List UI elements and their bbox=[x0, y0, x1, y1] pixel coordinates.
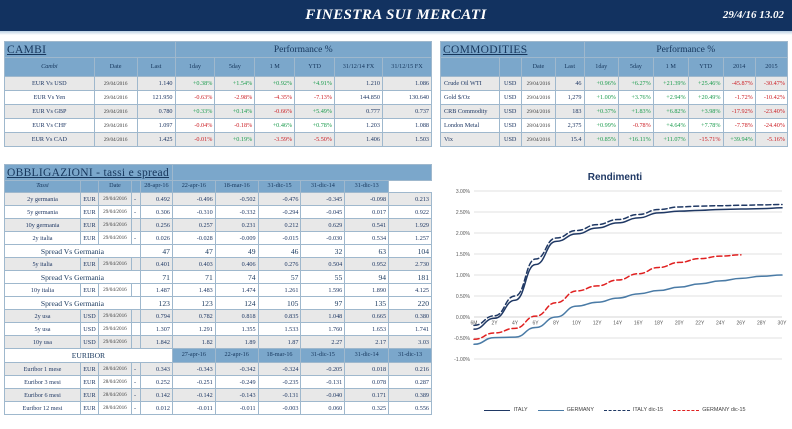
chart-legend-swatch-2 bbox=[604, 410, 630, 411]
bond-name: 2y germania bbox=[5, 193, 81, 206]
cambi-fx15: 0.737 bbox=[382, 105, 431, 119]
table-row: EUR Vs CHF29/04/20161.097-0.04%-0.18%+0.… bbox=[5, 119, 432, 133]
bond-value-5: 4.125 bbox=[389, 284, 432, 297]
table-row: Crude Oil WTIUSD29/04/201646+0.96%+6.27%… bbox=[441, 77, 788, 91]
rendimenti-chart-panel: Rendimenti 3.00%2.50%2.00%1.50%1.00%0.50… bbox=[440, 164, 790, 426]
chart-legend-label: ITALY bbox=[513, 407, 527, 413]
obbligazioni-col-header-1 bbox=[80, 181, 98, 193]
bond-last: 1.487 bbox=[140, 284, 172, 297]
euribor-value-1: -0.011 bbox=[215, 402, 258, 415]
obbligazioni-title-row: OBBLIGAZIONI - tassi e spread bbox=[5, 165, 432, 181]
spread-value-4: 135 bbox=[345, 297, 389, 310]
cambi-panel: CAMBIPerformance %CambiDateLast1day5day1… bbox=[4, 41, 432, 147]
euribor-col-header-1: 22-apr-16 bbox=[215, 349, 258, 363]
cambi-last: 1.425 bbox=[137, 133, 175, 147]
euribor-title: EURIBOR bbox=[5, 349, 173, 363]
euribor-value-1: -0.342 bbox=[215, 363, 258, 376]
euribor-date: 28/04/2016 bbox=[98, 389, 131, 402]
euribor-col-header-0: 27-apr-16 bbox=[172, 349, 215, 363]
bond-value-4: 0.952 bbox=[345, 258, 389, 271]
bond-currency: EUR bbox=[80, 258, 98, 271]
commodity-name: Gold $/Oz bbox=[441, 91, 500, 105]
cambi-pair-name: EUR Vs GBP bbox=[5, 105, 95, 119]
commodity-perf-1: +16.11% bbox=[618, 133, 653, 147]
euribor-name: Euribor 6 mesi bbox=[5, 389, 81, 402]
commodity-last: 46 bbox=[555, 77, 584, 91]
euribor-value-2: -0.235 bbox=[258, 376, 301, 389]
commodity-perf-0: +0.85% bbox=[584, 133, 618, 147]
bond-date: 29/04/2016 bbox=[98, 206, 131, 219]
cambi-col-header-7: 31/12/14 FX bbox=[335, 58, 383, 77]
commodity-name: London Metal bbox=[441, 119, 500, 133]
bond-value-5: 3.03 bbox=[389, 336, 432, 349]
bond-name: 10y usa bbox=[5, 336, 81, 349]
chart-series-line-0 bbox=[474, 208, 782, 329]
spread-label: Spread Vs Germania bbox=[5, 271, 141, 284]
cambi-perf-0: -0.01% bbox=[175, 133, 215, 147]
commodities-col-header-2: Date bbox=[521, 58, 555, 77]
cambi-date: 29/04/2016 bbox=[94, 133, 137, 147]
euribor-col-header-4: 31-dic-14 bbox=[345, 349, 389, 363]
bond-value-0: -0.028 bbox=[172, 232, 215, 245]
commodity-perf-5: -30.47% bbox=[755, 77, 787, 91]
chart-y-tick-label: 2.50% bbox=[456, 210, 471, 216]
table-row: EUR Vs USD29/04/20161.140+0.38%+1.54%+0.… bbox=[5, 77, 432, 91]
chart-series-line-1 bbox=[474, 275, 782, 344]
commodity-last: 15.4 bbox=[555, 133, 584, 147]
cambi-fx14: 1.203 bbox=[335, 119, 383, 133]
table-row: 10y usaUSD29/04/20161.8421.821.891.872.2… bbox=[5, 336, 432, 349]
table-row: Gold $/OzUSD29/04/20161,279+1.00%+3.76%+… bbox=[441, 91, 788, 105]
euribor-date: 28/04/2016 bbox=[98, 363, 131, 376]
obbligazioni-table: OBBLIGAZIONI - tassi e spreadTassiDate28… bbox=[4, 164, 432, 415]
bond-value-3: 2.27 bbox=[301, 336, 345, 349]
bond-value-5: 1.741 bbox=[389, 323, 432, 336]
commodity-perf-1: +6.27% bbox=[618, 77, 653, 91]
bond-currency: EUR bbox=[80, 193, 98, 206]
obbligazioni-col-header-5: 22-apr-16 bbox=[172, 181, 215, 193]
page-header: FINESTRA SUI MERCATI 29/4/16 13.02 bbox=[0, 0, 792, 31]
cambi-table: CAMBIPerformance %CambiDateLast1day5day1… bbox=[4, 41, 432, 147]
bond-currency: EUR bbox=[80, 206, 98, 219]
spread-row: Spread Vs Germania717174575594181 bbox=[5, 271, 432, 284]
bond-value-1: 1.89 bbox=[215, 336, 258, 349]
spread-last: 123 bbox=[140, 297, 172, 310]
spread-value-2: 57 bbox=[258, 271, 301, 284]
table-row: London MetalUSD28/04/20162,375+0.99%-0.7… bbox=[441, 119, 788, 133]
bond-last: 1.307 bbox=[140, 323, 172, 336]
bond-value-3: 0.504 bbox=[301, 258, 345, 271]
chart-x-tick-label: 12Y bbox=[593, 321, 603, 327]
bond-last: 0.401 bbox=[140, 258, 172, 271]
euribor-value-0: -0.011 bbox=[172, 402, 215, 415]
cambi-fx15: 1.086 bbox=[382, 77, 431, 91]
bond-minus-sign: - bbox=[131, 193, 140, 206]
cambi-header-row: CambiDateLast1day5day1 MYTD31/12/14 FX31… bbox=[5, 58, 432, 77]
euribor-minus-sign: - bbox=[131, 402, 140, 415]
cambi-perf-2: -0.66% bbox=[255, 105, 295, 119]
chart-plot-area: 3.00%2.50%2.00%1.50%1.00%0.50%0.00%-0.50… bbox=[440, 185, 790, 425]
bond-value-5: 0.380 bbox=[389, 310, 432, 323]
bond-last: 1.842 bbox=[140, 336, 172, 349]
bond-value-1: -0.009 bbox=[215, 232, 258, 245]
commodity-perf-0: +0.96% bbox=[584, 77, 618, 91]
euribor-last: 0.343 bbox=[140, 363, 172, 376]
bond-name: 5y germania bbox=[5, 206, 81, 219]
cambi-pair-name: EUR Vs USD bbox=[5, 77, 95, 91]
cambi-date: 29/04/2016 bbox=[94, 77, 137, 91]
chart-legend-swatch-0 bbox=[484, 410, 510, 411]
bond-value-3: 1.760 bbox=[301, 323, 345, 336]
table-row: Euribor 3 mesiEUR28/04/2016-0.252-0.251-… bbox=[5, 376, 432, 389]
cambi-perf-3: +0.78% bbox=[295, 119, 335, 133]
euribor-minus-sign: - bbox=[131, 389, 140, 402]
chart-svg: 3.00%2.50%2.00%1.50%1.00%0.50%0.00%-0.50… bbox=[440, 185, 790, 407]
cambi-perf-0: +0.33% bbox=[175, 105, 215, 119]
cambi-title-row: CAMBIPerformance % bbox=[5, 42, 432, 58]
spread-value-0: 47 bbox=[172, 245, 215, 258]
euribor-value-3: -0.131 bbox=[301, 376, 345, 389]
chart-x-tick-label: 24Y bbox=[716, 321, 726, 327]
euribor-value-3: 0.060 bbox=[301, 402, 345, 415]
spread-value-3: 97 bbox=[301, 297, 345, 310]
bond-date: 29/04/2016 bbox=[98, 323, 131, 336]
cambi-fx15: 1.088 bbox=[382, 119, 431, 133]
obbligazioni-col-header-9: 31-dic-13 bbox=[345, 181, 389, 193]
table-row: 5y italiaEUR29/04/20160.4010.4030.4060.2… bbox=[5, 258, 432, 271]
table-row: 2y italiaEUR29/04/2016-0.026-0.028-0.009… bbox=[5, 232, 432, 245]
chart-x-tick-label: 28Y bbox=[757, 321, 767, 327]
euribor-header-row: EURIBOR27-apr-1622-apr-1618-mar-1631-dic… bbox=[5, 349, 432, 363]
commodity-perf-5: -10.42% bbox=[755, 91, 787, 105]
bond-name: 10y italia bbox=[5, 284, 81, 297]
commodity-date: 29/04/2016 bbox=[521, 77, 555, 91]
euribor-value-4: 0.018 bbox=[345, 363, 389, 376]
bond-date: 29/04/2016 bbox=[98, 258, 131, 271]
commodities-col-header-1 bbox=[499, 58, 521, 77]
cambi-col-header-0: Cambi bbox=[5, 58, 95, 77]
chart-title: Rendimenti bbox=[440, 172, 790, 183]
spread-value-1: 74 bbox=[215, 271, 258, 284]
euribor-value-5: 0.556 bbox=[389, 402, 432, 415]
cambi-date: 29/04/2016 bbox=[94, 91, 137, 105]
commodity-name: CRB Commodity bbox=[441, 105, 500, 119]
commodity-perf-3: +3.98% bbox=[688, 105, 723, 119]
cambi-date: 29/04/2016 bbox=[94, 119, 137, 133]
bond-minus-sign bbox=[131, 284, 140, 297]
chart-x-tick-label: 14Y bbox=[613, 321, 623, 327]
table-row: 10y italiaEUR29/04/20161.4871.4831.4741.… bbox=[5, 284, 432, 297]
spread-value-0: 123 bbox=[172, 297, 215, 310]
bond-value-5: 1.257 bbox=[389, 232, 432, 245]
commodities-panel: COMMODITIESPerformance %DateLast1day5day… bbox=[440, 41, 788, 147]
cambi-perf-3: +4.91% bbox=[295, 77, 335, 91]
table-row: Euribor 1 meseEUR28/04/2016-0.343-0.343-… bbox=[5, 363, 432, 376]
bond-value-3: -0.030 bbox=[301, 232, 345, 245]
chart-legend: ITALYGERMANYITALY dic-15GERMANY dic-15 bbox=[440, 407, 790, 413]
spread-value-3: 55 bbox=[301, 271, 345, 284]
commodity-name: Crude Oil WTI bbox=[441, 77, 500, 91]
commodities-col-header-9: 2015 bbox=[755, 58, 787, 77]
bond-minus-sign bbox=[131, 323, 140, 336]
commodity-perf-3: -15.71% bbox=[688, 133, 723, 147]
commodities-col-header-5: 5day bbox=[618, 58, 653, 77]
euribor-minus-sign: - bbox=[131, 376, 140, 389]
euribor-last: 0.142 bbox=[140, 389, 172, 402]
cambi-col-header-2: Last bbox=[137, 58, 175, 77]
chart-x-tick-label: 26Y bbox=[736, 321, 746, 327]
commodity-perf-0: +0.99% bbox=[584, 119, 618, 133]
bond-value-1: -0.502 bbox=[215, 193, 258, 206]
bond-value-2: -0.015 bbox=[258, 232, 301, 245]
bond-value-4: 0.541 bbox=[345, 219, 389, 232]
euribor-value-5: 0.216 bbox=[389, 363, 432, 376]
commodities-panel-title: COMMODITIES bbox=[441, 42, 585, 58]
cambi-perf-1: -0.18% bbox=[215, 119, 255, 133]
commodity-perf-3: +25.46% bbox=[688, 77, 723, 91]
bond-last: 0.306 bbox=[140, 206, 172, 219]
obbligazioni-title-spacer bbox=[172, 165, 431, 181]
bond-value-1: 1.355 bbox=[215, 323, 258, 336]
spread-value-2: 105 bbox=[258, 297, 301, 310]
commodity-last: 1,279 bbox=[555, 91, 584, 105]
euribor-value-4: 0.325 bbox=[345, 402, 389, 415]
cambi-fx14: 0.777 bbox=[335, 105, 383, 119]
bond-value-1: 0.818 bbox=[215, 310, 258, 323]
bond-value-0: -0.310 bbox=[172, 206, 215, 219]
chart-x-tick-label: 2Y bbox=[491, 321, 498, 327]
bond-name: 10y germania bbox=[5, 219, 81, 232]
commodity-date: 29/04/2016 bbox=[521, 105, 555, 119]
commodity-perf-2: +6.82% bbox=[653, 105, 688, 119]
chart-legend-label: ITALY dic-15 bbox=[633, 407, 663, 413]
bond-currency: USD bbox=[80, 310, 98, 323]
cambi-col-header-3: 1day bbox=[175, 58, 215, 77]
euribor-value-3: -0.205 bbox=[301, 363, 345, 376]
chart-x-tick-label: 18Y bbox=[654, 321, 664, 327]
table-row: EUR Vs CAD29/04/20161.425-0.01%+0.19%-3.… bbox=[5, 133, 432, 147]
bond-value-4: -0.098 bbox=[345, 193, 389, 206]
commodity-date: 28/04/2016 bbox=[521, 119, 555, 133]
bond-value-2: -0.476 bbox=[258, 193, 301, 206]
chart-x-tick-label: 30Y bbox=[778, 321, 788, 327]
bond-value-0: 1.82 bbox=[172, 336, 215, 349]
bond-name: 5y italia bbox=[5, 258, 81, 271]
bond-value-0: -0.496 bbox=[172, 193, 215, 206]
chart-y-tick-label: 2.00% bbox=[456, 231, 471, 237]
commodities-col-header-3: Last bbox=[555, 58, 584, 77]
commodity-perf-4: -17.92% bbox=[723, 105, 755, 119]
header-datetime: 29/4/16 13.02 bbox=[723, 0, 784, 31]
euribor-currency: EUR bbox=[80, 389, 98, 402]
bond-value-0: 1.291 bbox=[172, 323, 215, 336]
bond-date: 29/04/2016 bbox=[98, 284, 131, 297]
table-row: VixUSD29/04/201615.4+0.85%+16.11%+11.07%… bbox=[441, 133, 788, 147]
chart-y-tick-label: 1.50% bbox=[456, 252, 471, 258]
euribor-currency: EUR bbox=[80, 363, 98, 376]
cambi-perf-3: +5.49% bbox=[295, 105, 335, 119]
cambi-fx15: 130.640 bbox=[382, 91, 431, 105]
bond-minus-sign bbox=[131, 310, 140, 323]
bond-value-1: 0.231 bbox=[215, 219, 258, 232]
bond-value-4: 0.534 bbox=[345, 232, 389, 245]
euribor-value-3: -0.040 bbox=[301, 389, 345, 402]
bond-date: 29/04/2016 bbox=[98, 219, 131, 232]
chart-legend-swatch-3 bbox=[673, 410, 699, 411]
bond-value-2: 1.533 bbox=[258, 323, 301, 336]
chart-legend-item: ITALY bbox=[484, 407, 527, 413]
bond-minus-sign bbox=[131, 336, 140, 349]
cambi-perf-2: +0.46% bbox=[255, 119, 295, 133]
spread-value-5: 181 bbox=[389, 271, 432, 284]
commodities-header-row: DateLast1day5day1 MYTD20142015 bbox=[441, 58, 788, 77]
euribor-value-2: -0.131 bbox=[258, 389, 301, 402]
commodity-perf-2: +21.39% bbox=[653, 77, 688, 91]
cambi-col-header-4: 5day bbox=[215, 58, 255, 77]
cambi-fx14: 1.406 bbox=[335, 133, 383, 147]
commodity-perf-3: +20.49% bbox=[688, 91, 723, 105]
chart-x-tick-label: 4Y bbox=[512, 321, 519, 327]
page-title: FINESTRA SUI MERCATI bbox=[0, 0, 792, 31]
commodity-perf-0: +1.00% bbox=[584, 91, 618, 105]
chart-x-tick-label: 6Y bbox=[533, 321, 540, 327]
cambi-perf-1: +0.19% bbox=[215, 133, 255, 147]
bond-value-4: 0.017 bbox=[345, 206, 389, 219]
header-shadow bbox=[0, 31, 792, 35]
bond-date: 29/04/2016 bbox=[98, 193, 131, 206]
commodity-perf-5: -5.16% bbox=[755, 133, 787, 147]
commodity-perf-1: -0.78% bbox=[618, 119, 653, 133]
chart-x-tick-label: 8Y bbox=[553, 321, 560, 327]
commodity-perf-5: -24.40% bbox=[755, 119, 787, 133]
bond-value-3: -0.345 bbox=[301, 193, 345, 206]
commodity-currency: USD bbox=[499, 105, 521, 119]
obbligazioni-panel-title: OBBLIGAZIONI - tassi e spread bbox=[5, 165, 173, 181]
bond-date: 29/04/2016 bbox=[98, 336, 131, 349]
table-row: 10y germaniaEUR29/04/20160.2560.2570.231… bbox=[5, 219, 432, 232]
commodities-col-header-8: 2014 bbox=[723, 58, 755, 77]
cambi-last: 1.140 bbox=[137, 77, 175, 91]
cambi-col-header-8: 31/12/15 FX bbox=[382, 58, 431, 77]
spread-value-1: 124 bbox=[215, 297, 258, 310]
table-row: 5y germaniaEUR29/04/2016-0.306-0.310-0.3… bbox=[5, 206, 432, 219]
commodity-perf-4: -45.87% bbox=[723, 77, 755, 91]
bond-date: 29/04/2016 bbox=[98, 232, 131, 245]
bond-value-4: 1.653 bbox=[345, 323, 389, 336]
cambi-perf-1: +0.14% bbox=[215, 105, 255, 119]
commodity-perf-2: +4.64% bbox=[653, 119, 688, 133]
commodity-last: 183 bbox=[555, 105, 584, 119]
bond-value-4: 2.17 bbox=[345, 336, 389, 349]
cambi-perf-0: -0.04% bbox=[175, 119, 215, 133]
commodity-currency: USD bbox=[499, 91, 521, 105]
commodity-date: 29/04/2016 bbox=[521, 133, 555, 147]
cambi-col-header-5: 1 M bbox=[255, 58, 295, 77]
table-row: 5y usaUSD29/04/20161.3071.2911.3551.5331… bbox=[5, 323, 432, 336]
cambi-performance-header: Performance % bbox=[175, 42, 432, 58]
euribor-value-2: -0.324 bbox=[258, 363, 301, 376]
chart-y-tick-label: 3.00% bbox=[456, 189, 471, 195]
bond-value-0: 0.403 bbox=[172, 258, 215, 271]
bond-value-1: -0.332 bbox=[215, 206, 258, 219]
obbligazioni-col-header-8: 31-dic-14 bbox=[301, 181, 345, 193]
bond-value-2: 0.835 bbox=[258, 310, 301, 323]
commodity-date: 29/04/2016 bbox=[521, 91, 555, 105]
bond-value-4: 1.890 bbox=[345, 284, 389, 297]
dashboard-root: FINESTRA SUI MERCATI 29/4/16 13.02 CAMBI… bbox=[0, 0, 792, 429]
commodity-perf-4: -1.72% bbox=[723, 91, 755, 105]
bond-value-1: 1.474 bbox=[215, 284, 258, 297]
commodities-col-header-4: 1day bbox=[584, 58, 618, 77]
bond-last: 0.794 bbox=[140, 310, 172, 323]
spread-last: 47 bbox=[140, 245, 172, 258]
bond-currency: EUR bbox=[80, 232, 98, 245]
chart-y-tick-label: 0.50% bbox=[456, 294, 471, 300]
cambi-perf-2: -4.35% bbox=[255, 91, 295, 105]
bond-date: 29/04/2016 bbox=[98, 310, 131, 323]
cambi-pair-name: EUR Vs CAD bbox=[5, 133, 95, 147]
bond-value-5: 1.929 bbox=[389, 219, 432, 232]
spread-value-3: 32 bbox=[301, 245, 345, 258]
euribor-date: 28/04/2016 bbox=[98, 402, 131, 415]
cambi-date: 29/04/2016 bbox=[94, 105, 137, 119]
bond-minus-sign bbox=[131, 219, 140, 232]
table-row: Euribor 12 mesiEUR28/04/2016-0.012-0.011… bbox=[5, 402, 432, 415]
bond-value-2: 0.276 bbox=[258, 258, 301, 271]
bond-currency: USD bbox=[80, 323, 98, 336]
cambi-perf-0: +0.38% bbox=[175, 77, 215, 91]
obbligazioni-header-row: TassiDate28-apr-1622-apr-1618-mar-1631-d… bbox=[5, 181, 432, 193]
bond-minus-sign: - bbox=[131, 232, 140, 245]
chart-x-tick-label: 16Y bbox=[634, 321, 644, 327]
commodity-last: 2,375 bbox=[555, 119, 584, 133]
cambi-fx14: 1.210 bbox=[335, 77, 383, 91]
euribor-currency: EUR bbox=[80, 402, 98, 415]
spread-label: Spread Vs Germania bbox=[5, 245, 141, 258]
spread-row: Spread Vs Germania474749463263104 bbox=[5, 245, 432, 258]
commodities-col-header-6: 1 M bbox=[653, 58, 688, 77]
chart-y-tick-label: 1.00% bbox=[456, 273, 471, 279]
euribor-name: Euribor 3 mesi bbox=[5, 376, 81, 389]
spread-value-5: 220 bbox=[389, 297, 432, 310]
euribor-value-2: -0.003 bbox=[258, 402, 301, 415]
chart-legend-swatch-1 bbox=[538, 410, 564, 411]
bond-value-2: 0.212 bbox=[258, 219, 301, 232]
commodity-currency: USD bbox=[499, 133, 521, 147]
spread-label: Spread Vs Germania bbox=[5, 297, 141, 310]
commodity-name: Vix bbox=[441, 133, 500, 147]
bond-currency: EUR bbox=[80, 284, 98, 297]
spread-row: Spread Vs Germania12312312410597135220 bbox=[5, 297, 432, 310]
commodity-currency: USD bbox=[499, 77, 521, 91]
chart-y-tick-label: -1.00% bbox=[454, 357, 470, 363]
commodities-performance-header: Performance % bbox=[584, 42, 788, 58]
commodity-perf-3: +7.78% bbox=[688, 119, 723, 133]
bond-last: 0.026 bbox=[140, 232, 172, 245]
euribor-name: Euribor 1 mese bbox=[5, 363, 81, 376]
chart-series-line-2 bbox=[474, 204, 782, 325]
cambi-col-header-6: YTD bbox=[295, 58, 335, 77]
bond-value-3: -0.045 bbox=[301, 206, 345, 219]
obbligazioni-panel: OBBLIGAZIONI - tassi e spreadTassiDate28… bbox=[4, 164, 432, 415]
bond-value-5: 0.922 bbox=[389, 206, 432, 219]
euribor-value-0: -0.343 bbox=[172, 363, 215, 376]
cambi-perf-3: -7.13% bbox=[295, 91, 335, 105]
cambi-pair-name: EUR Vs CHF bbox=[5, 119, 95, 133]
chart-legend-label: GERMANY bbox=[567, 407, 594, 413]
cambi-perf-1: -2.98% bbox=[215, 91, 255, 105]
bond-value-5: 0.213 bbox=[389, 193, 432, 206]
